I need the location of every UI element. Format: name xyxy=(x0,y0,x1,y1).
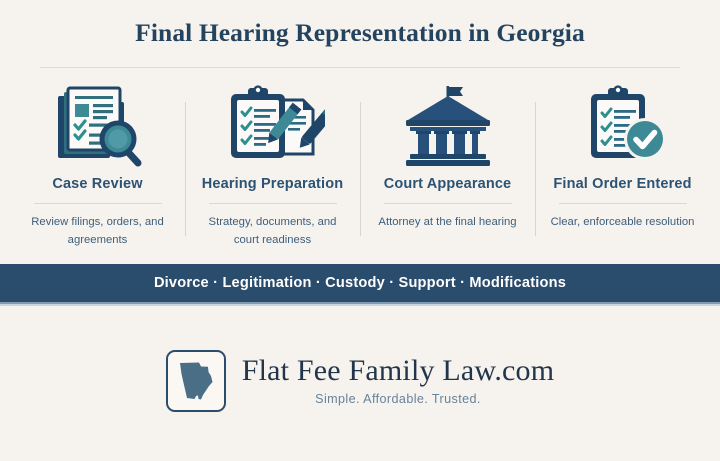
brand-name: Flat Fee Family Law.com xyxy=(242,355,555,387)
title-block: Final Hearing Representation in Georgia xyxy=(0,0,720,68)
infographic-canvas: Final Hearing Representation in Georgia xyxy=(0,0,720,461)
step-final-order-entered: Final Order Entered Clear, enforceable r… xyxy=(535,78,710,249)
banner-text: Divorce · Legitimation · Custody · Suppo… xyxy=(154,275,566,291)
step-description: Attorney at the final hearing xyxy=(378,214,516,232)
step-divider xyxy=(34,203,162,204)
step-case-review: Case Review Review filings, orders, and … xyxy=(10,78,185,249)
step-description: Review filings, orders, and agreements xyxy=(23,214,173,249)
step-divider xyxy=(384,203,512,204)
step-description: Clear, enforceable resolution xyxy=(551,214,695,232)
brand-tagline: Simple. Affordable. Trusted. xyxy=(315,392,481,406)
page-title: Final Hearing Representation in Georgia xyxy=(0,19,720,47)
documents-magnifier-icon xyxy=(50,78,146,174)
brand-text-block: Flat Fee Family Law.com Simple. Affordab… xyxy=(242,355,555,406)
footer-logo: Flat Fee Family Law.com Simple. Affordab… xyxy=(0,306,720,461)
step-description: Strategy, documents, and court readiness xyxy=(198,214,348,249)
step-title: Court Appearance xyxy=(384,176,512,192)
step-title: Hearing Preparation xyxy=(202,176,343,192)
banner-bar: Divorce · Legitimation · Custody · Suppo… xyxy=(0,264,720,302)
step-court-appearance: Court Appearance Attorney at the final h… xyxy=(360,78,535,249)
georgia-state-icon xyxy=(166,350,226,412)
steps-row: Case Review Review filings, orders, and … xyxy=(10,68,710,249)
step-title: Case Review xyxy=(52,176,142,192)
step-title: Final Order Entered xyxy=(553,176,691,192)
courthouse-icon xyxy=(398,78,498,174)
practice-areas-banner: Divorce · Legitimation · Custody · Suppo… xyxy=(0,264,720,306)
clipboard-pen-icon xyxy=(221,78,325,174)
clipboard-check-icon xyxy=(573,78,673,174)
step-divider xyxy=(559,203,687,204)
step-hearing-preparation: Hearing Preparation Strategy, documents,… xyxy=(185,78,360,249)
step-divider xyxy=(209,203,337,204)
